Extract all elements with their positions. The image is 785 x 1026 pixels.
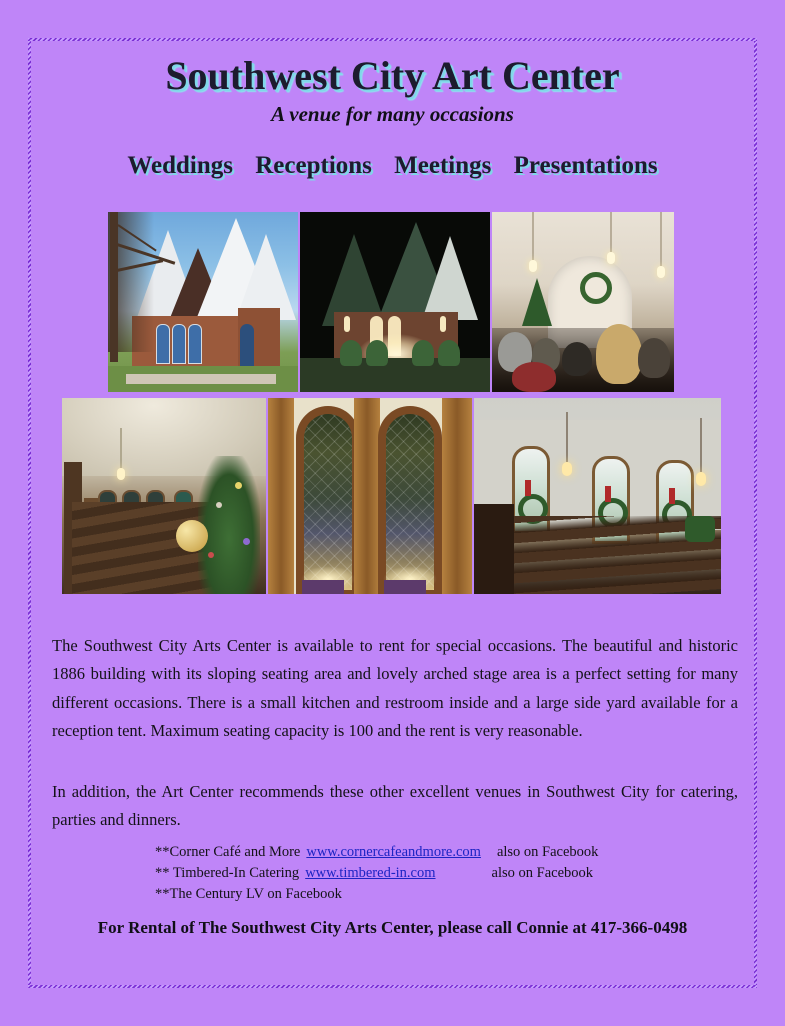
use-receptions: Receptions <box>255 152 372 179</box>
rental-contact-line: For Rental of The Southwest City Arts Ce… <box>0 918 785 938</box>
recommended-venue-list: **Corner Café and More www.cornercafeand… <box>155 842 715 905</box>
venue-item-corner-cafe: **Corner Café and More www.cornercafeand… <box>155 842 715 863</box>
venue-item-century-lv: **The Century LV on Facebook <box>155 884 715 905</box>
use-weddings: Weddings <box>127 152 233 179</box>
photo-congregation-interior <box>492 212 674 392</box>
venue-name: ** Timbered-In Catering <box>155 863 299 884</box>
page-subtitle: A venue for many occasions <box>0 102 785 127</box>
venue-link-timbered-in[interactable]: www.timbered-in.com <box>305 863 435 884</box>
venue-link-cornercafeandmore[interactable]: www.cornercafeandmore.com <box>306 842 481 863</box>
venue-name: **The Century LV on Facebook <box>155 884 342 905</box>
photo-church-exterior-daytime <box>108 212 298 392</box>
flyer-page: Southwest City Art Center A venue for ma… <box>0 0 785 1026</box>
photo-church-exterior-night <box>300 212 490 392</box>
photo-collage-row-2 <box>62 398 723 594</box>
paragraph-recommendations: In addition, the Art Center recommends t… <box>52 778 738 835</box>
use-meetings: Meetings <box>394 152 491 179</box>
photo-sanctuary-christmas-tree <box>62 398 266 594</box>
photo-stained-glass-windows <box>268 398 472 594</box>
venue-name: **Corner Café and More <box>155 842 300 863</box>
venue-note: also on Facebook <box>492 863 593 884</box>
photo-collage-row-1 <box>108 212 674 392</box>
venue-item-timbered-in: ** Timbered-In Catering www.timbered-in.… <box>155 863 715 884</box>
photo-sanctuary-pews-wreaths <box>474 398 721 594</box>
flyer-content: Southwest City Art Center A venue for ma… <box>0 0 785 1026</box>
page-title: Southwest City Art Center <box>0 52 785 99</box>
use-presentations: Presentations <box>514 152 658 179</box>
uses-list: Weddings Receptions Meetings Presentatio… <box>0 152 785 180</box>
venue-note: also on Facebook <box>497 842 598 863</box>
paragraph-about-venue: The Southwest City Arts Center is availa… <box>52 632 738 746</box>
